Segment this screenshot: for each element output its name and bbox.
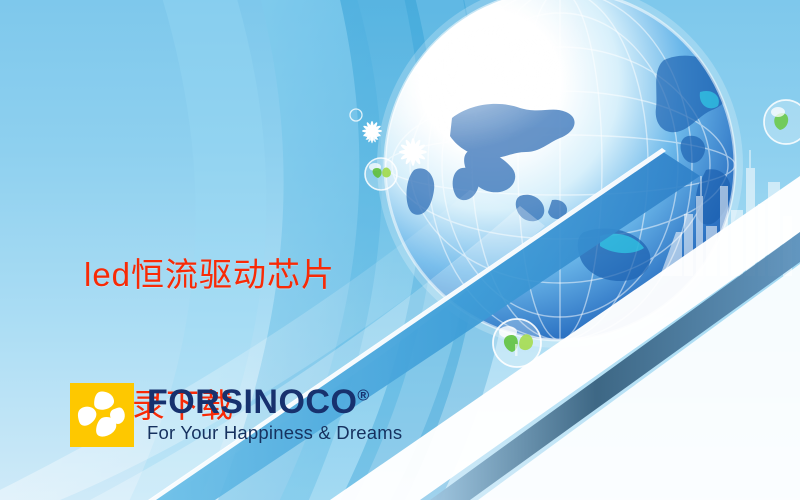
bubble-right-edge	[764, 100, 800, 144]
logo-wordmark: FORSINOCO®	[147, 385, 402, 419]
bubble-with-green-sprout-small	[365, 158, 397, 190]
headline-line-1: led恒流驱动芯片	[84, 253, 335, 297]
bubble-with-green-sprout-large	[493, 319, 541, 367]
page-title: led恒流驱动芯片 目录下载	[84, 166, 335, 500]
logo-text-block: FORSINOCO® For Your Happiness & Dreams	[147, 383, 402, 442]
logo-wordmark-text: FORSINOCO	[147, 383, 357, 421]
pinwheel-flower-icon	[70, 383, 134, 447]
company-logo[interactable]: FORSINOCO® For Your Happiness & Dreams	[70, 383, 402, 447]
banner-canvas: led恒流驱动芯片 目录下载 FORSINOCO® For Your Happi…	[0, 0, 800, 500]
registered-trademark-icon: ®	[357, 388, 369, 405]
logo-tagline: For Your Happiness & Dreams	[147, 423, 402, 442]
